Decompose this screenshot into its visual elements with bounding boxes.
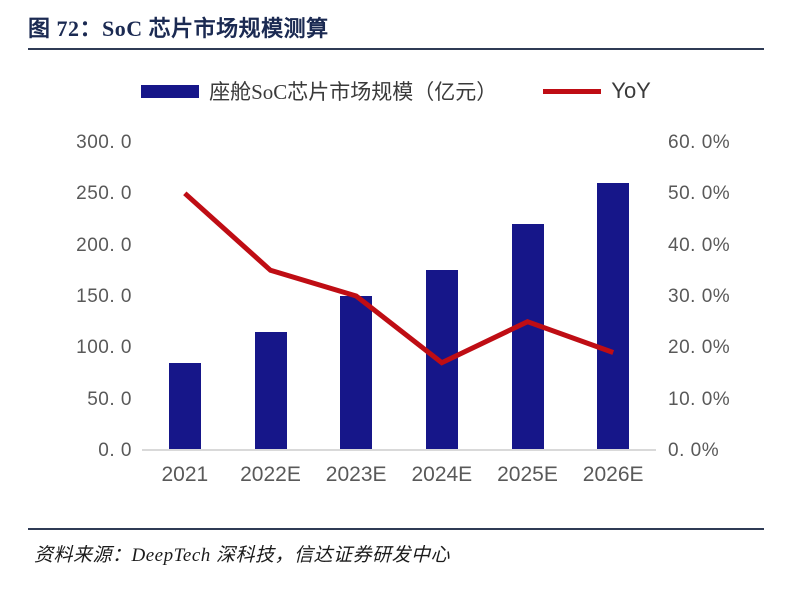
legend-item-label: 座舱SoC芯片市场规模（亿元） xyxy=(209,76,497,106)
left-axis-tick: 150. 0 xyxy=(76,286,132,308)
legend-item-line: YoY xyxy=(543,78,651,104)
right-axis: 60. 0% 50. 0% 40. 0% 30. 0% 20. 0% 10. 0… xyxy=(668,120,778,480)
left-axis-tick: 300. 0 xyxy=(76,132,132,154)
x-axis-line xyxy=(142,449,656,451)
source-note: 资料来源：DeepTech 深科技，信达证券研发中心 xyxy=(34,540,450,567)
x-axis-label-2025E: 2025E xyxy=(497,463,558,487)
chart-area: 300. 0 250. 0 200. 0 150. 0 100. 0 50. 0… xyxy=(0,120,792,510)
left-axis-tick: 200. 0 xyxy=(76,235,132,257)
right-axis-tick: 30. 0% xyxy=(668,286,730,308)
left-axis-tick: 50. 0 xyxy=(87,389,132,411)
footer-divider xyxy=(28,528,764,530)
left-axis-tick: 0. 0 xyxy=(98,440,132,462)
left-axis: 300. 0 250. 0 200. 0 150. 0 100. 0 50. 0… xyxy=(30,120,132,480)
page-title: 图 72：SoC 芯片市场规模测算 xyxy=(28,14,764,44)
chart-legend: 座舱SoC芯片市场规模（亿元） YoY xyxy=(0,76,792,106)
legend-line-swatch-icon xyxy=(543,89,601,94)
x-axis-label-2026E: 2026E xyxy=(583,463,644,487)
figure-page: 图 72：SoC 芯片市场规模测算 座舱SoC芯片市场规模（亿元） YoY 30… xyxy=(0,0,792,595)
right-axis-tick: 60. 0% xyxy=(668,132,730,154)
yoy-line-path xyxy=(185,193,613,362)
x-axis-labels: 20212022E2023E2024E2025E2026E xyxy=(142,463,656,499)
x-axis-label-2022E: 2022E xyxy=(240,463,301,487)
x-axis-label-2021: 2021 xyxy=(161,463,208,487)
left-axis-tick: 250. 0 xyxy=(76,183,132,205)
right-axis-tick: 0. 0% xyxy=(668,440,719,462)
right-axis-tick: 50. 0% xyxy=(668,183,730,205)
title-divider xyxy=(28,48,764,50)
line-series xyxy=(142,142,656,450)
left-axis-tick: 100. 0 xyxy=(76,337,132,359)
x-axis-label-2024E: 2024E xyxy=(411,463,472,487)
right-axis-tick: 40. 0% xyxy=(668,235,730,257)
right-axis-tick: 10. 0% xyxy=(668,389,730,411)
title-block: 图 72：SoC 芯片市场规模测算 xyxy=(28,14,764,50)
plot-region xyxy=(142,142,656,450)
right-axis-tick: 20. 0% xyxy=(668,337,730,359)
legend-item-bar: 座舱SoC芯片市场规模（亿元） xyxy=(141,76,497,106)
legend-bar-swatch-icon xyxy=(141,85,199,98)
x-axis-label-2023E: 2023E xyxy=(326,463,387,487)
legend-item-label: YoY xyxy=(611,78,651,104)
